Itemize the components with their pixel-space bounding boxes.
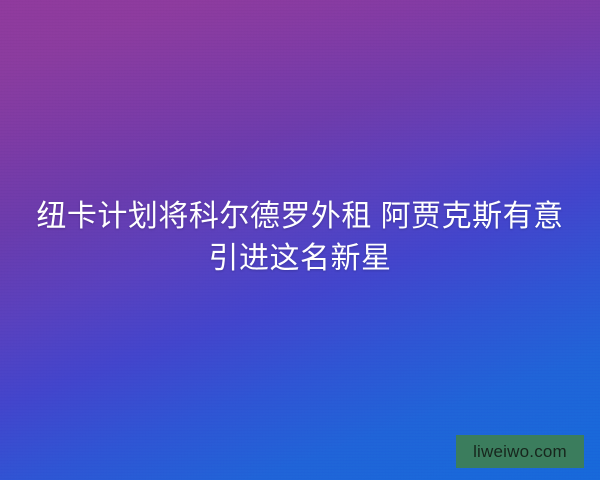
watermark-label: liweiwo.com — [473, 443, 567, 460]
watermark-badge: liweiwo.com — [456, 435, 584, 468]
headline-text: 纽卡计划将科尔德罗外租 阿贾克斯有意 引进这名新星 — [0, 196, 600, 280]
news-card: 纽卡计划将科尔德罗外租 阿贾克斯有意 引进这名新星 liweiwo.com — [0, 0, 600, 480]
background-top-wash — [0, 0, 600, 170]
